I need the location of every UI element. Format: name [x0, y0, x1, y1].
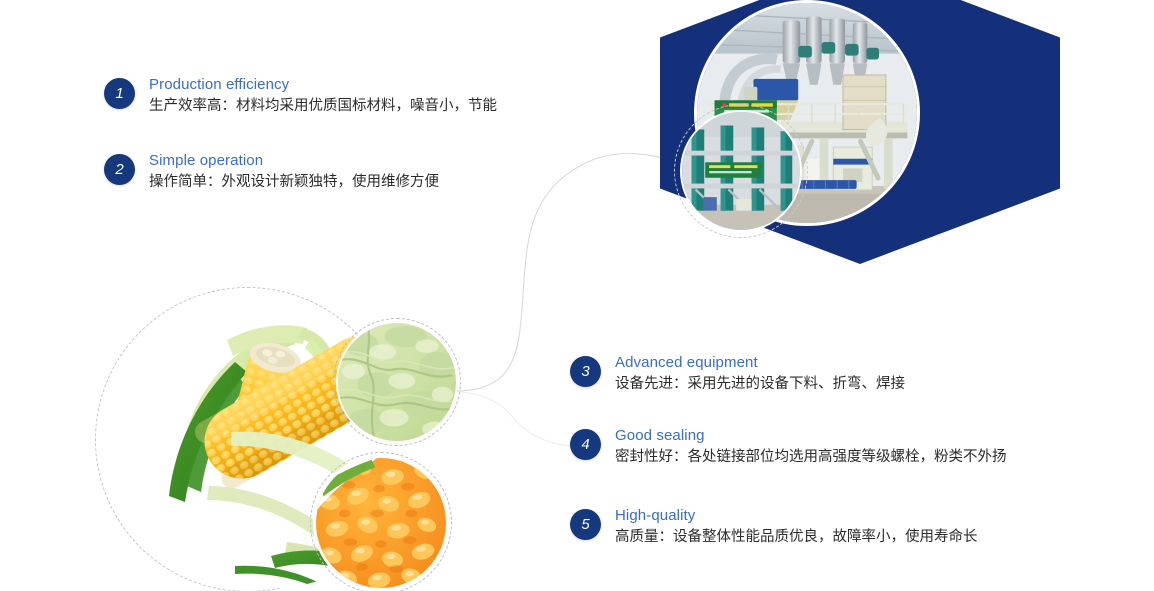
feature-item-5[interactable]: 5 High-quality 高质量：设备整体性能品质优良，故障率小，使用寿命长 [570, 506, 978, 548]
feature-item-1[interactable]: 1 Production efficiency 生产效率高：材料均采用优质国标材… [104, 75, 497, 117]
feature-text: Good sealing 密封性好：各处链接部位均选用高强度等级螺栓，粉类不外扬 [615, 426, 1007, 468]
corn-paste-photo [336, 321, 458, 443]
feature-description: 设备先进：采用先进的设备下料、折弯、焊接 [615, 373, 905, 395]
feature-title: Simple operation [149, 151, 439, 170]
feature-description: 密封性好：各处链接部位均选用高强度等级螺栓，粉类不外扬 [615, 446, 1007, 468]
badge-number: 3 [570, 356, 601, 387]
corn-kernels-photo [313, 455, 449, 591]
badge-number: 5 [570, 509, 601, 540]
feature-text: Production efficiency 生产效率高：材料均采用优质国标材料，… [149, 75, 497, 117]
feature-text: High-quality 高质量：设备整体性能品质优良，故障率小，使用寿命长 [615, 506, 978, 548]
badge-number: 4 [570, 429, 601, 460]
feature-title: Advanced equipment [615, 353, 905, 372]
infographic-canvas: 1 Production efficiency 生产效率高：材料均采用优质国标材… [0, 0, 1154, 591]
feature-title: High-quality [615, 506, 978, 525]
feature-description: 高质量：设备整体性能品质优良，故障率小，使用寿命长 [615, 526, 978, 548]
small-circle-photo [680, 110, 802, 232]
badge-number: 2 [104, 154, 135, 185]
feature-item-2[interactable]: 2 Simple operation 操作简单：外观设计新颖独特，使用维修方便 [104, 151, 439, 193]
feature-description: 操作简单：外观设计新颖独特，使用维修方便 [149, 171, 439, 193]
feature-item-3[interactable]: 3 Advanced equipment 设备先进：采用先进的设备下料、折弯、焊… [570, 353, 905, 395]
feature-text: Simple operation 操作简单：外观设计新颖独特，使用维修方便 [149, 151, 439, 193]
feature-text: Advanced equipment 设备先进：采用先进的设备下料、折弯、焊接 [615, 353, 905, 395]
feature-item-4[interactable]: 4 Good sealing 密封性好：各处链接部位均选用高强度等级螺栓，粉类不… [570, 426, 1007, 468]
feature-title: Good sealing [615, 426, 1007, 445]
badge-number: 1 [104, 78, 135, 109]
feature-title: Production efficiency [149, 75, 497, 94]
feature-description: 生产效率高：材料均采用优质国标材料，噪音小，节能 [149, 95, 497, 117]
